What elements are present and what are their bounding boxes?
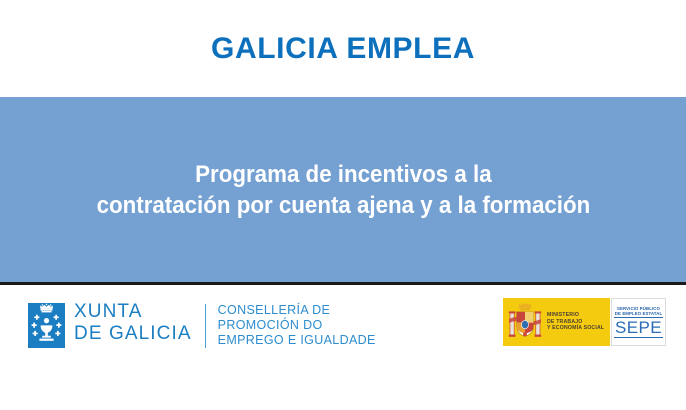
galicia-coat-of-arms-icon: [28, 303, 65, 348]
page-header: GALICIA EMPLEA: [0, 0, 686, 97]
ministerio-line-3: Y ECONOMÍA SOCIAL: [547, 325, 604, 332]
xunta-de-galicia-logo: XUNTA DE GALICIA CONSELLERÍA DE PROMOCIÓ…: [28, 302, 376, 348]
sepe-acronym: SEPE: [614, 317, 663, 338]
program-banner: Programa de incentivos a la contratación…: [0, 97, 686, 282]
conselleria-name: CONSELLERÍA DE PROMOCIÓN DO EMPREGO E IG…: [218, 303, 376, 348]
xunta-wordmark-line-2: DE GALICIA: [74, 323, 192, 345]
conselleria-line-3: EMPREGO E IGUALDADE: [218, 333, 376, 348]
xunta-wordmark-line-1: XUNTA: [74, 301, 192, 323]
ministerio-line-1: MINISTERIO: [547, 312, 604, 319]
ministerio-trabajo-logo: MINISTERIO DE TRABAJO Y ECONOMÍA SOCIAL: [503, 298, 610, 346]
page-footer: XUNTA DE GALICIA CONSELLERÍA DE PROMOCIÓ…: [0, 285, 686, 410]
xunta-wordmark: XUNTA DE GALICIA: [74, 301, 192, 345]
conselleria-line-1: CONSELLERÍA DE: [218, 303, 376, 318]
government-logos: MINISTERIO DE TRABAJO Y ECONOMÍA SOCIAL …: [503, 298, 666, 346]
banner-line-1: Programa de incentivos a la: [195, 159, 491, 190]
sepe-logo: SERVICIO PÚBLICO DE EMPLEO ESTATAL SEPE: [611, 298, 666, 346]
ministerio-text: MINISTERIO DE TRABAJO Y ECONOMÍA SOCIAL: [547, 312, 604, 332]
sepe-subtitle-line-2: DE EMPLEO ESTATAL: [615, 311, 662, 316]
page-title: GALICIA EMPLEA: [211, 34, 475, 64]
logo-vertical-rule: [205, 304, 206, 348]
banner-line-2: contratación por cuenta ajena y a la for…: [96, 190, 590, 221]
conselleria-line-2: PROMOCIÓN DO: [218, 318, 376, 333]
spain-coat-of-arms-icon: [508, 302, 542, 342]
